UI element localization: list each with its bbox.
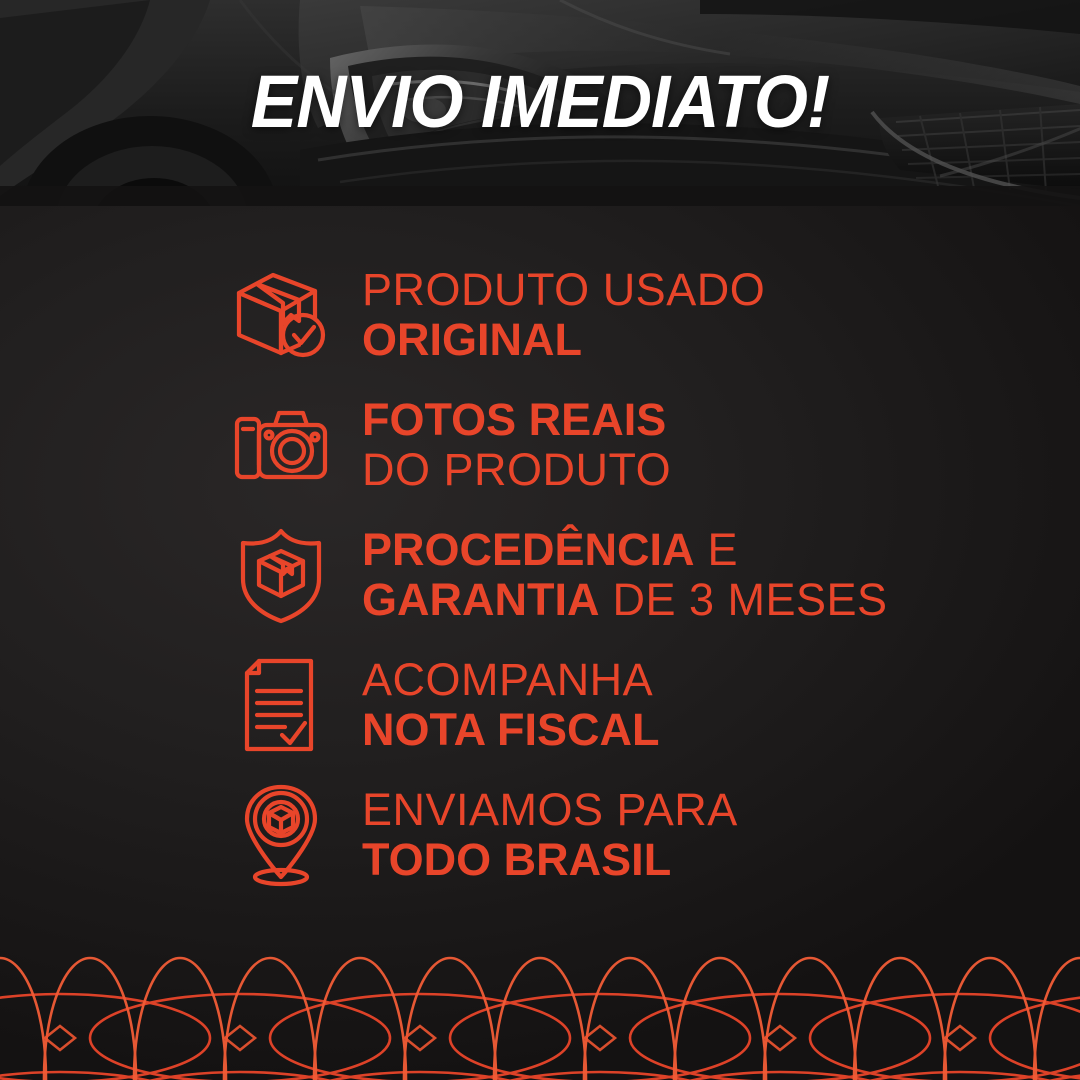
feature-line-1: FOTOS REAIS (362, 398, 1080, 442)
feature-line-1: PROCEDÊNCIA E (362, 528, 1080, 572)
feature-list: PRODUTO USADO ORIGINAL (222, 250, 1080, 900)
ellipse-lattice-pattern (0, 920, 1080, 1080)
footer-pattern (0, 920, 1080, 1080)
feature-line-2-thin: DE 3 MESES (599, 574, 887, 625)
page-title: ENVIO IMEDIATO! (32, 62, 1047, 142)
feature-line-1-thin: E (695, 524, 739, 575)
feature-row-produto-usado-original: PRODUTO USADO ORIGINAL (222, 250, 1080, 380)
feature-text: PROCEDÊNCIA E GARANTIA DE 3 MESES (340, 528, 1080, 622)
feature-text: PRODUTO USADO ORIGINAL (340, 268, 1080, 362)
feature-line-2: DO PRODUTO (362, 448, 1080, 492)
feature-line-1: ACOMPANHA (362, 658, 1080, 702)
feature-row-nota-fiscal: ACOMPANHA NOTA FISCAL (222, 640, 1080, 770)
promo-banner: ENVIO IMEDIATO! PRODUTO USADO ORIGINAL (0, 0, 1080, 1080)
feature-line-2-bold: GARANTIA (362, 574, 599, 625)
feature-row-fotos-reais: FOTOS REAIS DO PRODUTO (222, 380, 1080, 510)
feature-line-1: ENVIAMOS PARA (362, 788, 1080, 832)
map-pin-box-icon (222, 781, 340, 889)
camera-icon (222, 401, 340, 489)
document-check-icon (222, 655, 340, 755)
feature-text: FOTOS REAIS DO PRODUTO (340, 398, 1080, 492)
feature-line-2: TODO BRASIL (362, 838, 1080, 882)
feature-line-2: NOTA FISCAL (362, 708, 1080, 752)
feature-line-1-bold: PROCEDÊNCIA (362, 524, 695, 575)
shield-box-icon (222, 525, 340, 625)
feature-row-todo-brasil: ENVIAMOS PARA TODO BRASIL (222, 770, 1080, 900)
box-check-icon (222, 267, 340, 363)
feature-line-1: PRODUTO USADO (362, 268, 1080, 312)
feature-line-2: ORIGINAL (362, 318, 1080, 362)
feature-text: ENVIAMOS PARA TODO BRASIL (340, 788, 1080, 882)
feature-line-2: GARANTIA DE 3 MESES (362, 578, 1080, 622)
feature-row-procedencia-garantia: PROCEDÊNCIA E GARANTIA DE 3 MESES (222, 510, 1080, 640)
feature-text: ACOMPANHA NOTA FISCAL (340, 658, 1080, 752)
